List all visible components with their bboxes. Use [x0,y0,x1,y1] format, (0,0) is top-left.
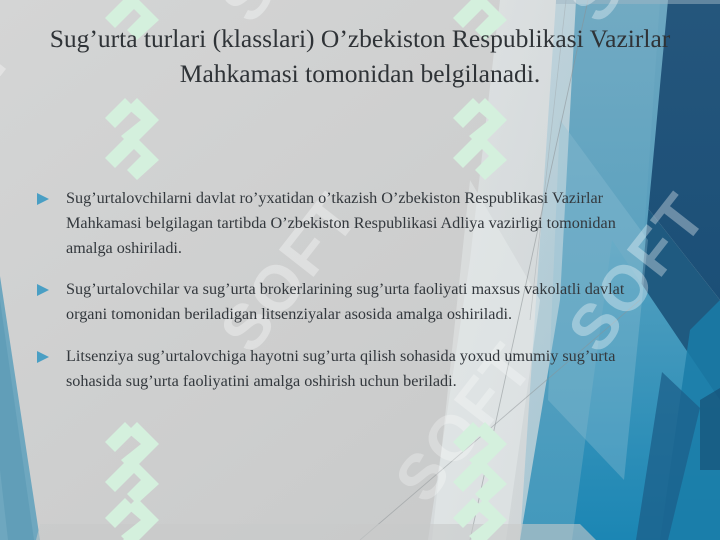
bg-shape-bottom-band [36,524,596,540]
bg-shape-left-wedge [0,276,40,540]
angular-s-watermark-icon [451,420,509,506]
list-item: Sug’urtalovchilar va sug’urta brokerlari… [36,277,636,327]
angular-s-watermark-icon [451,96,509,182]
slide-title: Sug’urta turlari (klasslari) O’zbekiston… [40,22,680,91]
angular-s-watermark-icon [103,496,161,540]
bg-shape-dark-spike-2 [700,388,720,470]
slide-body-list: Sug’urtalovchilarni davlat ro’yxatidan o… [36,186,636,394]
watermark-text: SOFT [0,19,28,205]
presentation-slide: SOFT SOFT SOFT SOFT SOFT SOFT [0,0,720,540]
bg-shape-navy-band-lower [636,206,720,415]
bg-shape-left-wedge-inner [0,300,34,540]
triangle-right-bullet-icon [36,350,50,364]
bg-shape-dark-spike [636,372,700,540]
list-item-text: Sug’urtalovchilarni davlat ro’yxatidan o… [66,186,636,261]
bg-shape-teal-right-edge [660,300,720,540]
angular-s-watermark-icon [103,96,161,182]
bg-top-speckle-strip [556,0,720,4]
angular-s-watermark-icon [451,496,509,540]
triangle-right-bullet-icon [36,192,50,206]
angular-s-watermark-icon [103,420,161,506]
list-item-text: Sug’urtalovchilar va sug’urta brokerlari… [66,277,636,327]
list-item: Sug’urtalovchilarni davlat ro’yxatidan o… [36,186,636,261]
list-item: Litsenziya sug’urtalovchiga hayotni sug’… [36,344,636,394]
list-item-text: Litsenziya sug’urtalovchiga hayotni sug’… [66,344,636,394]
triangle-right-bullet-icon [36,283,50,297]
